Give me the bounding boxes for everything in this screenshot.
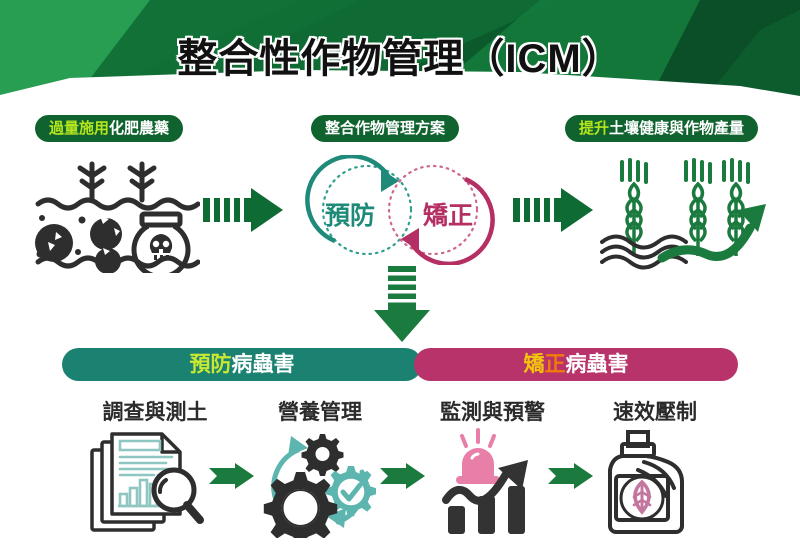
section-bar-row: 預防病蟲害 矯正病蟲害 <box>62 348 738 381</box>
pesticide-bottle-icon <box>600 428 710 543</box>
pill-problem: 過量施用化肥農藥 <box>35 115 183 142</box>
gears-checkmark-icon <box>258 428 376 543</box>
column-caption-nutrition: 營養管理 <box>250 396 390 426</box>
section-bar-correct-rest: 病蟲害 <box>566 353 629 376</box>
header-banner: 整合性作物管理（ICM） <box>0 0 800 118</box>
column-caption-suppress: 速效壓制 <box>585 396 725 426</box>
contaminated-soil-icon <box>30 158 200 278</box>
striped-right-arrow-icon-2 <box>513 186 595 239</box>
page-title: 整合性作物管理（ICM） <box>0 26 800 84</box>
pill-problem-rest: 化肥農藥 <box>109 120 169 137</box>
section-bar-prevent: 預防病蟲害 <box>62 348 422 381</box>
chevron-right-icon-2 <box>380 462 426 495</box>
column-caption-monitoring: 監測與預警 <box>415 396 570 426</box>
wheat-growth-icon <box>598 158 773 275</box>
pill-outcome-rest: 土壤健康與作物產量 <box>609 120 744 137</box>
pill-solution-label: 整合作物管理方案 <box>325 120 445 137</box>
pill-outcome: 提升土壤健康與作物產量 <box>565 115 758 142</box>
alarm-growth-chart-icon <box>436 428 558 543</box>
cycle-correct-label: 矯正 <box>423 196 473 232</box>
column-caption-survey: 調查與測土 <box>80 396 230 426</box>
pill-outcome-highlight: 提升 <box>579 120 609 137</box>
section-bar-prevent-rest: 病蟲害 <box>232 353 295 376</box>
pill-problem-highlight: 過量施用 <box>49 120 109 137</box>
section-bar-correct-highlight-1: 矯 <box>524 353 545 376</box>
section-bar-correct-highlight-2: 正 <box>545 353 566 376</box>
striped-right-arrow-icon-1 <box>203 186 285 239</box>
cycle-prevent-label: 預防 <box>325 196 375 232</box>
chevron-right-icon-3 <box>548 462 594 495</box>
documents-magnifier-icon <box>88 432 206 542</box>
chevron-right-icon-1 <box>209 462 255 495</box>
infographic-poster: 整合性作物管理（ICM） 過量施用化肥農藥 整合作物管理方案 提升土壤健康與作物… <box>0 0 800 551</box>
section-bar-correct: 矯正病蟲害 <box>414 348 738 381</box>
striped-down-arrow-icon <box>372 266 432 349</box>
section-bar-prevent-highlight: 預防 <box>190 353 232 376</box>
pill-solution: 整合作物管理方案 <box>311 115 459 142</box>
